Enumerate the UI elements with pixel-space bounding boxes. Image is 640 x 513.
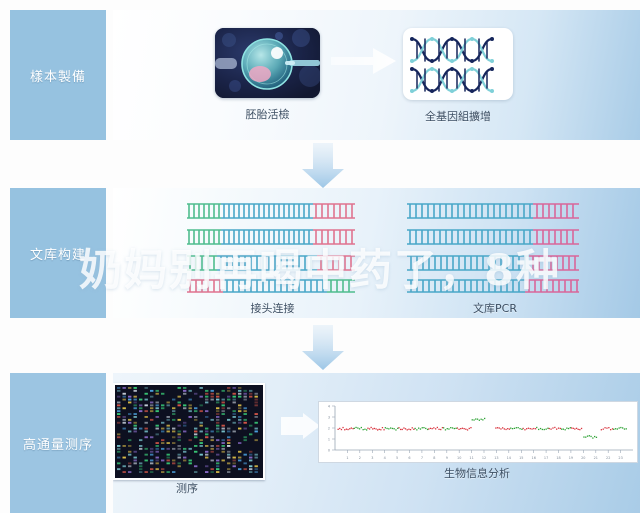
svg-text:9: 9: [446, 456, 448, 460]
svg-text:18: 18: [556, 456, 560, 460]
embryo-biopsy-image: [215, 28, 320, 98]
svg-text:19: 19: [569, 456, 573, 460]
sidebar-item-label: 樣本製備: [30, 66, 86, 85]
workflow-row-sample-prep: 樣本製備: [0, 10, 640, 140]
embryo-illustration: [215, 28, 320, 98]
svg-text:10: 10: [457, 456, 461, 460]
svg-text:6: 6: [408, 456, 410, 460]
svg-text:4: 4: [384, 456, 386, 460]
svg-text:12: 12: [482, 456, 486, 460]
svg-text:13: 13: [494, 456, 498, 460]
sidebar-item-sample-prep[interactable]: 樣本製備: [10, 10, 106, 140]
caption-adapter-ligation: 接头连接: [185, 300, 360, 316]
bioinformatics-chart: 1234567891011121314151617181920212223 01…: [318, 401, 638, 463]
svg-text:14: 14: [507, 456, 511, 460]
panel-sequencing: 1234567891011121314151617181920212223 01…: [113, 373, 640, 513]
sidebar-item-high-throughput-sequencing[interactable]: 高通量测序: [10, 373, 106, 513]
caption-library-pcr: 文库PCR: [405, 300, 585, 316]
svg-text:21: 21: [594, 456, 598, 460]
arrow-right-icon: [281, 413, 321, 439]
panel-library-construction: 接头连接 文库PCR: [113, 188, 640, 318]
arrow-down-icon: [300, 325, 346, 371]
svg-text:17: 17: [544, 456, 548, 460]
cnv-plot: 1234567891011121314151617181920212223 01…: [319, 402, 637, 462]
svg-text:2: 2: [328, 426, 330, 430]
arrow-down-icon: [300, 143, 346, 189]
arrow-right-icon: [331, 46, 397, 76]
workflow-row-sequencing: 高通量测序 1234567891011121314151617181920212: [0, 373, 640, 513]
sequencing-lanes-illustration: [115, 385, 259, 474]
svg-text:16: 16: [532, 456, 536, 460]
svg-text:0: 0: [328, 448, 330, 452]
caption-sequencing: 测序: [113, 480, 261, 496]
svg-text:1: 1: [328, 437, 330, 441]
panel-sample-prep: 胚胎活檢 全基因組擴增: [113, 10, 640, 140]
library-pcr-illustration: [405, 196, 585, 296]
svg-text:20: 20: [581, 456, 585, 460]
svg-text:2: 2: [359, 456, 361, 460]
wga-dna-image: [403, 28, 513, 100]
sequencing-image: [113, 383, 265, 480]
sidebar-item-label: 高通量测序: [23, 434, 93, 453]
workflow-diagram: 樣本製備: [0, 0, 640, 513]
adapter-ligation-illustration: [185, 196, 360, 296]
svg-text:5: 5: [396, 456, 398, 460]
caption-bioinformatics-analysis: 生物信息分析: [318, 465, 636, 481]
svg-text:1: 1: [346, 456, 348, 460]
svg-text:23: 23: [618, 456, 622, 460]
svg-text:8: 8: [433, 456, 435, 460]
svg-text:15: 15: [519, 456, 523, 460]
svg-text:22: 22: [606, 456, 610, 460]
svg-text:7: 7: [421, 456, 423, 460]
caption-embryo-biopsy: 胚胎活檢: [215, 106, 320, 122]
svg-text:4: 4: [328, 404, 330, 408]
sidebar-item-library-construction[interactable]: 文库构建: [10, 188, 106, 318]
svg-text:3: 3: [328, 415, 330, 419]
caption-whole-genome-amplification: 全基因組擴增: [403, 108, 513, 124]
dna-helix-icon: [408, 33, 508, 95]
svg-text:3: 3: [371, 456, 373, 460]
sidebar-item-label: 文库构建: [30, 244, 86, 263]
svg-text:11: 11: [469, 456, 473, 460]
workflow-row-library-construction: 文库构建: [0, 188, 640, 318]
